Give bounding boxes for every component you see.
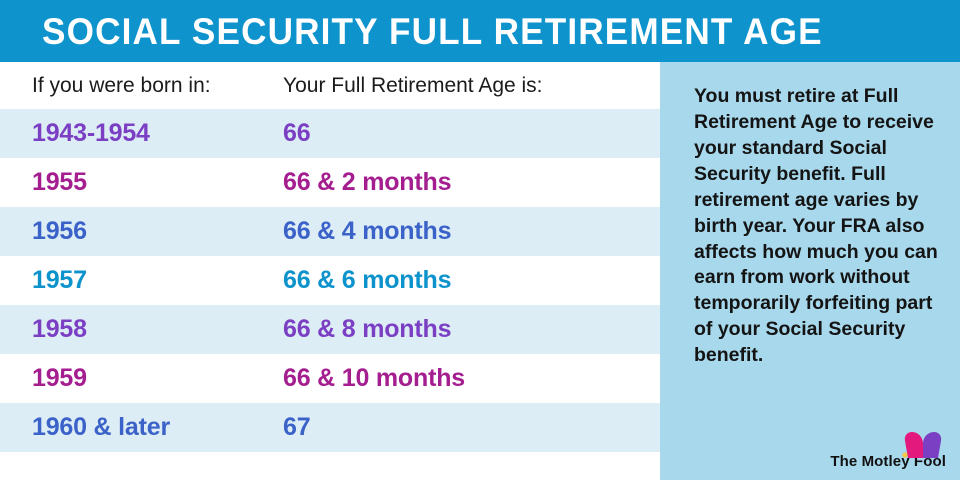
table-row: 195866 & 8 months xyxy=(0,305,660,354)
cell-retirement-age: 66 xyxy=(283,119,310,148)
cell-retirement-age: 66 & 8 months xyxy=(283,315,451,344)
cell-retirement-age: 66 & 10 months xyxy=(283,364,465,393)
cell-retirement-age: 66 & 4 months xyxy=(283,217,451,246)
cell-birth-year: 1943-1954 xyxy=(0,119,283,148)
jester-hat-icon xyxy=(902,432,944,458)
brand-logo: The Motley Fool xyxy=(830,428,946,472)
cell-retirement-age: 66 & 2 months xyxy=(283,168,451,197)
cell-birth-year: 1959 xyxy=(0,364,283,393)
infographic-root: SOCIAL SECURITY FULL RETIREMENT AGE If y… xyxy=(0,0,960,480)
table-row: 195966 & 10 months xyxy=(0,354,660,403)
table-row: 195566 & 2 months xyxy=(0,158,660,207)
table-row: 1943-195466 xyxy=(0,109,660,158)
cell-birth-year: 1955 xyxy=(0,168,283,197)
table-row: 195766 & 6 months xyxy=(0,256,660,305)
table-header-row: If you were born in: Your Full Retiremen… xyxy=(0,62,660,109)
page-title: SOCIAL SECURITY FULL RETIREMENT AGE xyxy=(42,13,823,50)
cell-birth-year: 1958 xyxy=(0,315,283,344)
table-row: 195666 & 4 months xyxy=(0,207,660,256)
column-header-retirement-age: Your Full Retirement Age is: xyxy=(283,74,543,98)
cell-retirement-age: 67 xyxy=(283,413,310,442)
table-row: 1960 & later67 xyxy=(0,403,660,452)
table-body: 1943-195466195566 & 2 months195666 & 4 m… xyxy=(0,109,660,452)
column-header-birth-year: If you were born in: xyxy=(0,74,283,98)
retirement-age-table: If you were born in: Your Full Retiremen… xyxy=(0,62,660,480)
header-band: SOCIAL SECURITY FULL RETIREMENT AGE xyxy=(0,0,960,62)
sidebar-note: You must retire at Full Retirement Age t… xyxy=(660,62,960,480)
cell-birth-year: 1960 & later xyxy=(0,413,283,442)
sidebar-body-text: You must retire at Full Retirement Age t… xyxy=(694,84,938,369)
cell-birth-year: 1957 xyxy=(0,266,283,295)
cell-birth-year: 1956 xyxy=(0,217,283,246)
body-area: If you were born in: Your Full Retiremen… xyxy=(0,62,960,480)
cell-retirement-age: 66 & 6 months xyxy=(283,266,451,295)
